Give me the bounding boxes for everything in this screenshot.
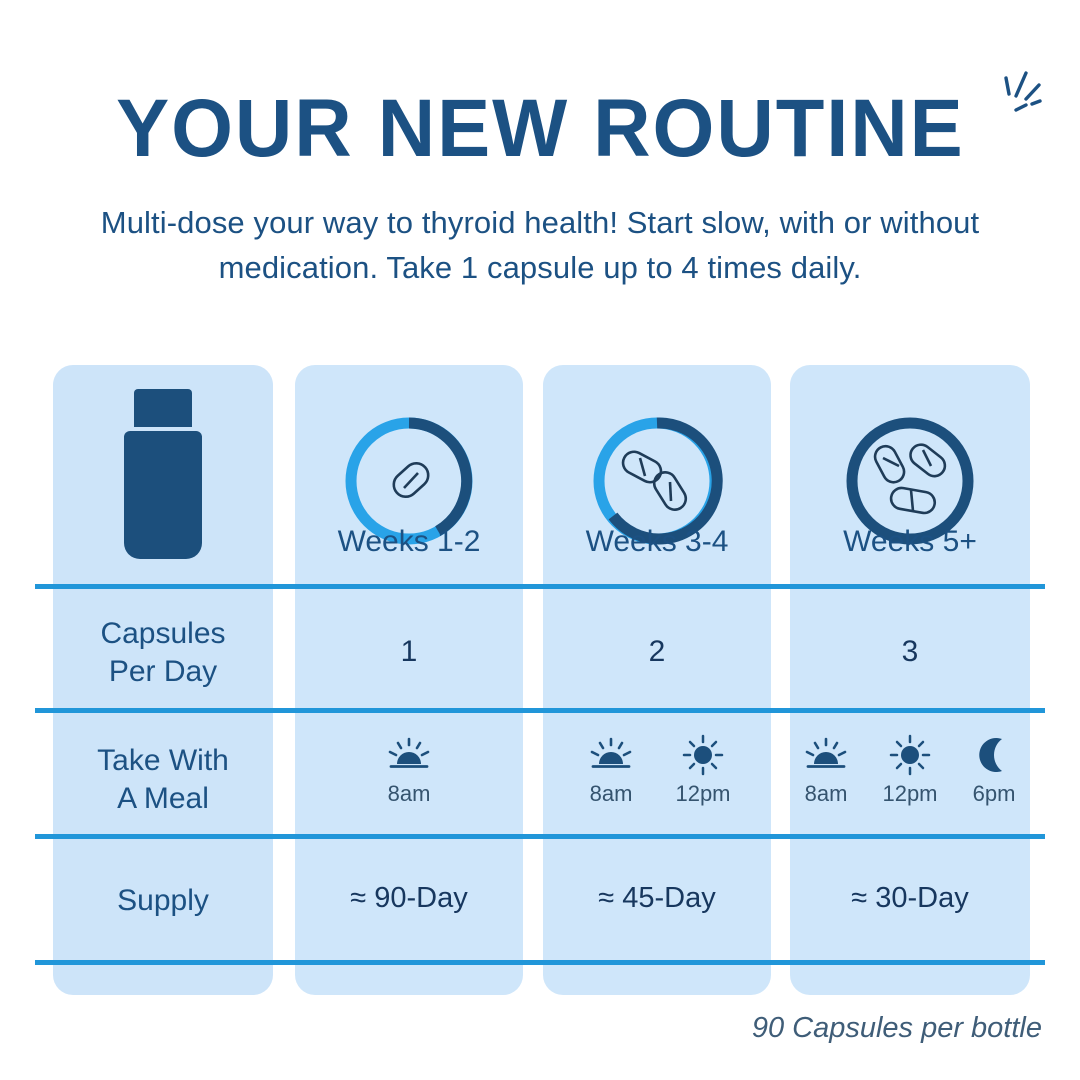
time-label: 12pm <box>882 781 937 807</box>
moon-icon <box>976 735 1012 775</box>
cell-times-weeks-3-4: 8am 12pm <box>543 735 771 815</box>
time-label: 8am <box>805 781 848 807</box>
column-label-weeks-1-2: Weeks 1-2 <box>295 525 523 571</box>
row-divider <box>35 708 1045 713</box>
footer-note: 90 Capsules per bottle <box>0 1012 1042 1045</box>
time-item: 12pm <box>672 735 734 807</box>
sun-icon <box>889 735 931 775</box>
routine-table: Weeks 1-2 Weeks 3-4 Weeks 5+ Capsules Pe… <box>0 0 1080 1080</box>
time-item: 8am <box>580 735 642 807</box>
cell-capsules-per-day-weeks-3-4: 2 <box>543 635 771 669</box>
cell-supply-weeks-1-2: ≈ 90-Day <box>295 882 523 915</box>
time-item: 8am <box>795 735 857 807</box>
time-label: 8am <box>590 781 633 807</box>
sunrise-icon <box>386 735 432 775</box>
row-label-take-with-a-meal: Take With A Meal <box>53 742 273 818</box>
cell-times-weeks-5-plus: 8am 12pm <box>790 735 1030 815</box>
time-item: 8am <box>378 735 440 807</box>
row-label-line: Take With <box>53 742 273 780</box>
sunrise-icon <box>588 735 634 775</box>
row-divider <box>35 834 1045 839</box>
row-label-line: Supply <box>53 882 273 920</box>
cell-supply-weeks-5-plus: ≈ 30-Day <box>790 882 1030 915</box>
sun-icon <box>682 735 724 775</box>
cell-times-weeks-1-2: 8am <box>295 735 523 815</box>
row-divider <box>35 584 1045 589</box>
column-label-weeks-5-plus: Weeks 5+ <box>790 525 1030 571</box>
time-label: 8am <box>388 781 431 807</box>
row-label-capsules-per-day: Capsules Per Day <box>53 615 273 691</box>
cell-supply-weeks-3-4: ≈ 45-Day <box>543 882 771 915</box>
column-label-weeks-3-4: Weeks 3-4 <box>543 525 771 571</box>
cell-capsules-per-day-weeks-1-2: 1 <box>295 635 523 669</box>
time-label: 6pm <box>973 781 1016 807</box>
time-item: 12pm <box>879 735 941 807</box>
row-label-line: A Meal <box>53 780 273 818</box>
cell-capsules-per-day-weeks-5-plus: 3 <box>790 635 1030 669</box>
sunrise-icon <box>803 735 849 775</box>
row-label-line: Per Day <box>53 653 273 691</box>
row-divider <box>35 960 1045 965</box>
time-label: 12pm <box>675 781 730 807</box>
pill-bottle-icon <box>53 375 273 575</box>
time-item: 6pm <box>963 735 1025 807</box>
row-label-line: Capsules <box>53 615 273 653</box>
row-label-supply: Supply <box>53 882 273 920</box>
